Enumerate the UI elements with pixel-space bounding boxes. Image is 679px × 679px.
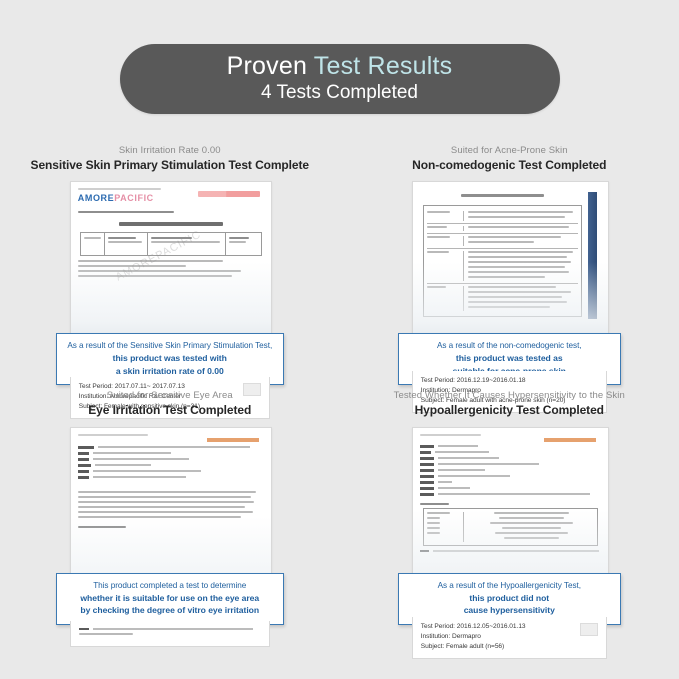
callout-line: this product did not: [405, 592, 614, 604]
test-title: Sensitive Skin Primary Stimulation Test …: [0, 158, 340, 174]
certificate-area-4: As a result of the Hypoallergenicity Tes…: [412, 427, 607, 627]
meta-test-period: Test Period: 2016.12.19~2016.01.18: [421, 376, 598, 386]
callout-line: As a result of the non-comedogenic test,: [405, 340, 614, 352]
test-block-eye-irritation: Suited for Sensitive Eye Area Eye Irrita…: [0, 390, 340, 626]
certificate-content-2: [420, 188, 601, 343]
callout-line: cause hypersensitivity: [405, 604, 614, 616]
banner-subtitle: 4 Tests Completed: [261, 82, 418, 105]
certificate-area-1: AMOREPACIFIC: [70, 181, 270, 381]
document-header-bar: [207, 438, 259, 442]
certificate-area-3: This product completed a test to determi…: [70, 427, 270, 627]
test-subtitle: Skin Irritation Rate 0.00: [0, 145, 340, 157]
test-subtitle: Suited for Sensitive Eye Area: [0, 390, 340, 402]
test-subtitle: Tested Whether It Causes Hypersensitivit…: [340, 390, 679, 402]
document-header-bar: [544, 438, 596, 442]
test-callout-3: This product completed a test to determi…: [56, 573, 284, 625]
callout-line: this product was tested with: [63, 352, 277, 364]
callout-line: As a result of the Hypoallergenicity Tes…: [405, 580, 614, 592]
callout-line: by checking the degree of vitro eye irri…: [63, 604, 277, 616]
document-table: [423, 508, 598, 546]
document-stamp: [580, 623, 598, 636]
certificate-area-2: As a result of the non-comedogenic test,…: [412, 181, 607, 381]
callout-line: whether it is suitable for use on the ey…: [63, 592, 277, 604]
test-title: Eye Irritation Test Completed: [0, 403, 340, 419]
test-subtitle: Suited for Acne-Prone Skin: [340, 145, 679, 157]
callout-line: this product was tested as: [405, 352, 614, 364]
test-block-non-comedogenic: Suited for Acne-Prone Skin Non-comedogen…: [340, 145, 679, 381]
test-title: Hypoallergenicity Test Completed: [340, 403, 679, 419]
test-block-sensitive-skin: Skin Irritation Rate 0.00 Sensitive Skin…: [0, 145, 340, 381]
certificate-image-1: AMOREPACIFIC: [70, 181, 272, 348]
tests-grid: Skin Irritation Rate 0.00 Sensitive Skin…: [0, 145, 679, 627]
test-title: Non-comedogenic Test Completed: [340, 158, 679, 174]
callout-line: a skin irritation rate of 0.00: [63, 365, 277, 377]
banner-title: Proven Test Results: [227, 53, 453, 79]
banner-title-proven: Proven: [227, 52, 314, 80]
callout-line: As a result of the Sensitive Skin Primar…: [63, 340, 277, 352]
meta-institution: Institution: Dermapro: [421, 632, 598, 642]
test-meta-3: [70, 621, 270, 647]
document-table: [423, 205, 582, 317]
document-title-line: [119, 222, 223, 226]
meta-subject: Subject: Female adult (n=56): [421, 642, 598, 652]
test-meta-4: Test Period: 2016.12.05~2016.01.13 Insti…: [412, 617, 607, 659]
test-block-hypoallergenicity: Tested Whether It Causes Hypersensitivit…: [340, 390, 679, 626]
banner-title-test-results: Test Results: [314, 52, 453, 80]
product-detail-page: Proven Test Results 4 Tests Completed Sk…: [0, 0, 679, 679]
document-binder-strip: [588, 192, 597, 319]
header-banner-container: Proven Test Results 4 Tests Completed: [0, 44, 679, 114]
certificate-image-2: [412, 181, 609, 348]
callout-line: This product completed a test to determi…: [63, 580, 277, 592]
meta-test-period: Test Period: 2016.12.05~2016.01.13: [421, 622, 598, 632]
certificate-content-4: [420, 434, 601, 594]
document-header-bar: [198, 191, 260, 197]
header-banner: Proven Test Results 4 Tests Completed: [120, 44, 560, 114]
certificate-content-1: AMOREPACIFIC: [78, 188, 264, 343]
